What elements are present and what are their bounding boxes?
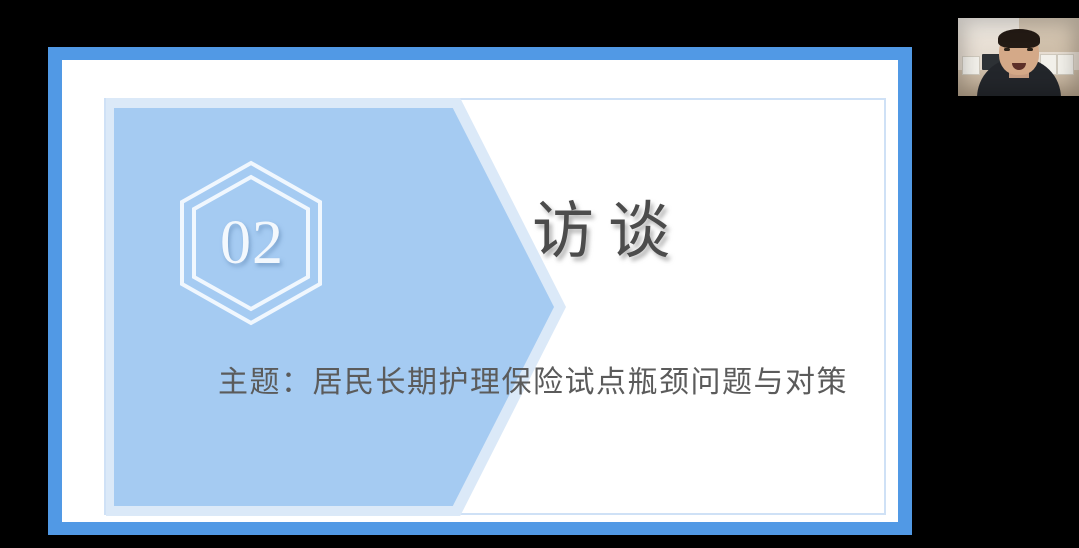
slide-subtitle: 主题：居民长期护理保险试点瓶颈问题与对策 <box>218 360 888 405</box>
slide-headline: 访谈 <box>532 200 684 265</box>
presentation-slide[interactable]: 02 访谈 主题：居民长期护理保险试点瓶颈问题与对策 <box>48 47 912 535</box>
slide-white-mat: 02 访谈 主题：居民长期护理保险试点瓶颈问题与对策 <box>62 60 898 522</box>
section-number-text: 02 <box>175 158 327 328</box>
webcam-vignette <box>958 18 1079 96</box>
webcam-video-frame <box>958 18 1079 96</box>
screen-root: 02 访谈 主题：居民长期护理保险试点瓶颈问题与对策 <box>0 0 1079 548</box>
section-number-hexagon-badge: 02 <box>175 158 327 328</box>
speaker-video-tile[interactable] <box>958 18 1079 96</box>
